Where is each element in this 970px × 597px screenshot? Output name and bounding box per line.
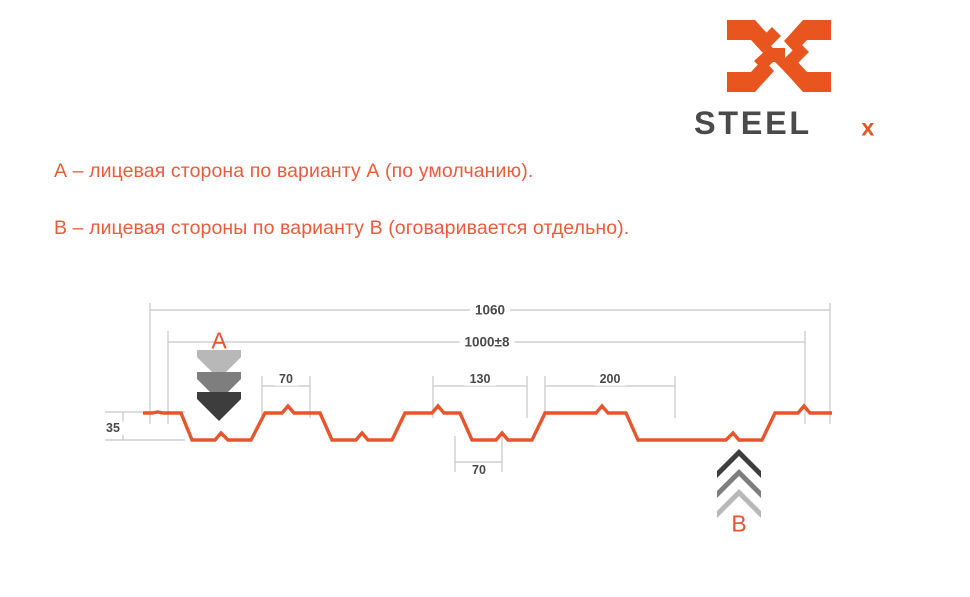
dimension-label-130: 130 [465,373,496,386]
dimension-label-200: 200 [595,373,626,386]
sheet-profile-polyline [143,406,832,440]
dimension-label-35: 35 [101,422,125,435]
dimension-label-1000: 1000±8 [460,335,515,349]
dimension-label-1060: 1060 [470,303,510,317]
dimension-label-70-bottom: 70 [467,464,491,477]
marker-b-chevrons [717,449,761,518]
marker-a-chevrons [197,350,241,421]
marker-a-label: A [211,330,226,353]
profile-technical-drawing [0,0,970,597]
dimension-label-70-top: 70 [274,373,298,386]
marker-b-label: B [731,513,746,536]
